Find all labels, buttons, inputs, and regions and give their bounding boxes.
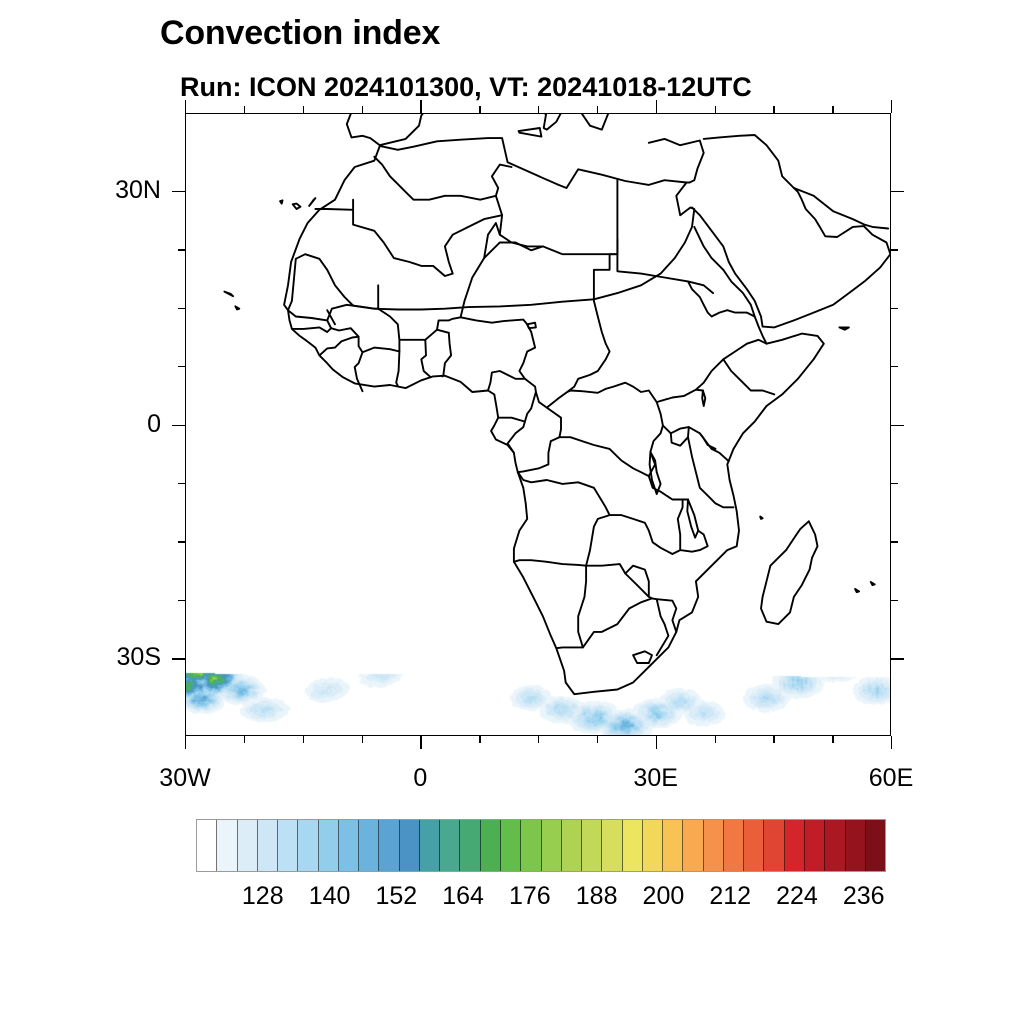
- axis-tick: [832, 736, 833, 743]
- coastline-path: [689, 427, 729, 461]
- colorbar-cell: [339, 820, 359, 871]
- colorbar-tick-label: 200: [643, 884, 685, 909]
- axis-tick: [172, 191, 185, 192]
- colorbar-cell: [582, 820, 602, 871]
- axis-tick: [891, 736, 892, 749]
- coastline-path: [692, 188, 890, 327]
- coastline-path: [761, 521, 818, 624]
- coastline-path: [488, 371, 525, 391]
- coastline-path: [498, 418, 525, 422]
- colorbar-cell: [724, 820, 744, 871]
- axis-tick: [178, 483, 185, 484]
- axis-tick: [172, 658, 185, 659]
- coastline-path: [871, 582, 875, 585]
- axis-tick: [303, 106, 304, 113]
- chart-subtitle: Run: ICON 2024101300, VT: 20241018-12UTC: [180, 74, 752, 101]
- coastline-path: [518, 408, 561, 473]
- colorbar[interactable]: [196, 819, 886, 872]
- colorbar-cell: [704, 820, 724, 871]
- colorbar-cell: [602, 820, 622, 871]
- coastline-path: [556, 566, 586, 649]
- colorbar-cell: [542, 820, 562, 871]
- axis-tick: [420, 100, 421, 113]
- coastline-path: [235, 306, 239, 309]
- colorbar-cell: [197, 820, 217, 871]
- axis-tick: [178, 541, 185, 542]
- coastline-path: [327, 305, 374, 321]
- axis-tick: [773, 736, 774, 743]
- colorbar-cell: [278, 820, 298, 871]
- coastline-path: [519, 128, 542, 137]
- coastline-path: [663, 426, 671, 434]
- colorbar-tick-label: 164: [442, 884, 484, 909]
- coastline-path: [309, 198, 315, 206]
- figure-root: Convection index Run: ICON 2024101300, V…: [0, 0, 1024, 1024]
- coastline-path: [315, 209, 353, 210]
- axis-tick: [773, 106, 774, 113]
- axis-tick: [832, 106, 833, 113]
- colorbar-cell: [825, 820, 845, 871]
- coastline-path: [331, 328, 449, 352]
- coastline-path: [855, 589, 859, 592]
- coastline-path: [702, 391, 705, 407]
- coastline-path: [319, 337, 358, 356]
- axis-tick: [891, 541, 898, 542]
- colorbar-cell: [643, 820, 663, 871]
- colorbar-cell: [440, 820, 460, 871]
- axis-tick: [178, 249, 185, 250]
- x-axis-label: 30W: [159, 766, 210, 791]
- axis-tick: [891, 366, 898, 367]
- axis-tick: [185, 100, 186, 113]
- coastline-path: [421, 340, 430, 377]
- colorbar-cell: [663, 820, 683, 871]
- axis-tick: [891, 483, 898, 484]
- axis-tick: [597, 736, 598, 743]
- coastline-path: [374, 157, 496, 200]
- colorbar-cell: [481, 820, 501, 871]
- colorbar-cell: [623, 820, 643, 871]
- axis-tick: [172, 425, 185, 426]
- axis-tick: [479, 736, 480, 743]
- colorbar-cell: [805, 820, 825, 871]
- axis-tick: [891, 249, 898, 250]
- coastline-path: [649, 139, 704, 183]
- colorbar-tick-label: 188: [576, 884, 618, 909]
- coastline-path: [633, 651, 652, 663]
- colorbar-cell: [400, 820, 420, 871]
- colorbar-cell: [460, 820, 480, 871]
- colorbar-tick-label: 236: [843, 884, 885, 909]
- colorbar-cell: [744, 820, 764, 871]
- colorbar-cell: [319, 820, 339, 871]
- colorbar-cell: [217, 820, 237, 871]
- coastline-path: [687, 500, 698, 538]
- coastline-path: [700, 433, 716, 449]
- coastline-path: [514, 472, 610, 566]
- colorbar-cell: [501, 820, 521, 871]
- coastline-overlay: [186, 114, 891, 736]
- axis-tick: [656, 100, 657, 113]
- coastline-path: [671, 427, 689, 446]
- colorbar-cell: [379, 820, 399, 871]
- colorbar-cell: [866, 820, 885, 871]
- axis-tick: [178, 308, 185, 309]
- x-axis-label: 60E: [869, 766, 913, 791]
- x-axis-label: 30E: [633, 766, 677, 791]
- y-axis-label: 30N: [0, 178, 161, 203]
- coastline-path: [657, 599, 669, 655]
- colorbar-cell: [238, 820, 258, 871]
- colorbar-cell: [764, 820, 784, 871]
- coastline-path: [657, 390, 703, 402]
- axis-tick: [891, 658, 904, 659]
- coastline-path: [492, 165, 618, 255]
- colorbar-cell: [785, 820, 805, 871]
- colorbar-cell: [562, 820, 582, 871]
- coastline-path: [704, 135, 794, 188]
- coastline-path: [224, 292, 233, 297]
- map-plot-area[interactable]: [185, 113, 891, 736]
- colorbar-tick-labels: 128140152164176188200212224236: [0, 884, 1024, 916]
- y-axis-label: 0: [0, 412, 161, 437]
- colorbar-tick-label: 152: [375, 884, 417, 909]
- coastline-path: [284, 138, 694, 310]
- coastline-path: [288, 227, 824, 694]
- colorbar-tick-label: 224: [776, 884, 818, 909]
- axis-tick: [244, 736, 245, 743]
- y-axis-label: 30S: [0, 645, 161, 670]
- colorbar-cell: [258, 820, 278, 871]
- axis-tick: [891, 100, 892, 113]
- axis-tick: [597, 106, 598, 113]
- colorbar-cell: [846, 820, 866, 871]
- coastline-path: [396, 352, 399, 386]
- axis-tick: [420, 736, 421, 749]
- coastline-path: [293, 204, 301, 209]
- axis-tick: [715, 106, 716, 113]
- coastline-path: [696, 340, 767, 390]
- colorbar-cell: [298, 820, 318, 871]
- axis-tick: [891, 191, 904, 192]
- x-axis-label: 0: [413, 766, 427, 791]
- chart-title: Convection index: [160, 16, 440, 50]
- axis-tick: [178, 366, 185, 367]
- axis-tick: [656, 736, 657, 749]
- axis-tick: [891, 425, 904, 426]
- colorbar-tick-label: 176: [509, 884, 551, 909]
- colorbar-tick-label: 140: [309, 884, 351, 909]
- coastline-path: [480, 114, 562, 130]
- coastline-path: [347, 114, 447, 145]
- colorbar-tick-label: 128: [242, 884, 284, 909]
- coastline-path: [484, 223, 500, 258]
- colorbar-cell: [420, 820, 440, 871]
- coastline-path: [288, 310, 331, 332]
- coastline-path: [573, 114, 735, 130]
- axis-tick: [891, 600, 898, 601]
- coastline-path: [583, 598, 652, 647]
- coastline-path: [508, 392, 536, 453]
- axis-tick: [891, 308, 898, 309]
- coastline-path: [794, 188, 888, 229]
- colorbar-cell: [359, 820, 379, 871]
- colorbar-cell: [521, 820, 541, 871]
- coastline-path: [443, 333, 452, 377]
- axis-tick: [303, 736, 304, 743]
- coastline-path: [559, 383, 663, 476]
- axis-tick: [715, 736, 716, 743]
- colorbar-cell: [683, 820, 703, 871]
- coastline-path: [437, 317, 527, 329]
- axis-tick: [538, 106, 539, 113]
- axis-tick: [362, 736, 363, 743]
- coastline-path: [610, 476, 683, 554]
- coastline-path: [760, 517, 762, 519]
- coastline-path: [839, 327, 849, 329]
- axis-tick: [244, 106, 245, 113]
- axis-tick: [362, 106, 363, 113]
- colorbar-tick-label: 212: [709, 884, 751, 909]
- axis-tick: [178, 600, 185, 601]
- coastline-path: [374, 309, 399, 340]
- axis-tick: [479, 106, 480, 113]
- axis-tick: [185, 736, 186, 749]
- coastline-path: [280, 200, 282, 203]
- coastline-path: [723, 359, 774, 394]
- axis-tick: [538, 736, 539, 743]
